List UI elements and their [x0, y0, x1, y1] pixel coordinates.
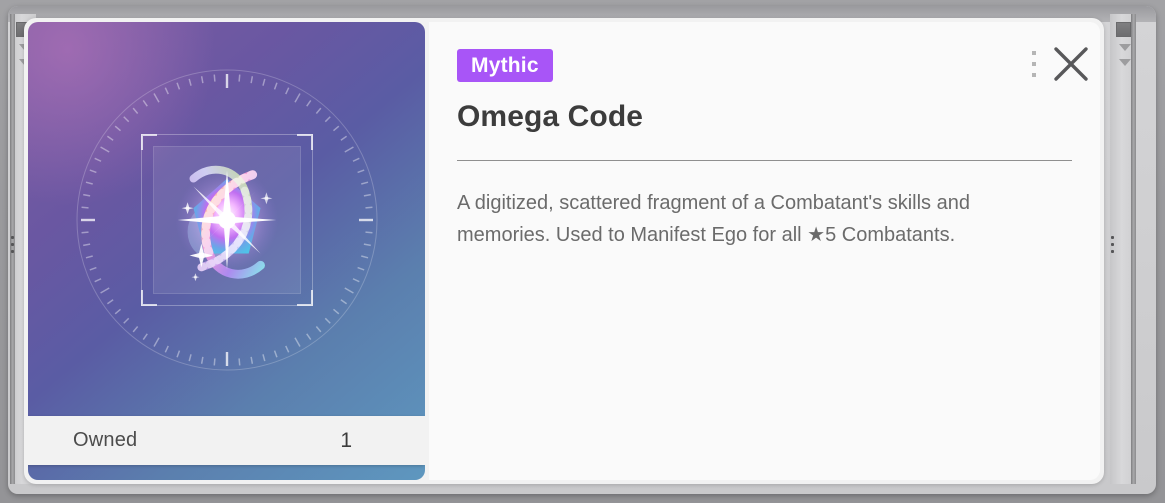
scrollbar-grip-right [1111, 232, 1115, 266]
rarity-badge-label: Mythic [471, 54, 539, 78]
item-detail-dialog: Owned 1 Mythic Omega Code A digitized, s… [24, 18, 1104, 484]
item-title: Omega Code [457, 100, 643, 134]
right-vertical-scrollbar[interactable] [1110, 14, 1136, 484]
owned-label: Owned [73, 429, 137, 452]
item-description: A digitized, scattered fragment of a Com… [457, 187, 1047, 251]
scroll-down-arrow-right-1[interactable] [1119, 44, 1131, 51]
barcode-decoration [388, 416, 425, 465]
close-x-icon[interactable] [1047, 40, 1095, 88]
title-divider [457, 160, 1072, 161]
scrollbar-grip-left [11, 232, 15, 266]
owned-value: 1 [340, 429, 352, 453]
scroll-down-arrow-right-2[interactable] [1119, 59, 1131, 66]
omega-code-gem-icon [158, 151, 296, 289]
kebab-menu-icon[interactable] [1029, 44, 1039, 84]
scrollbar-rail-right[interactable] [1131, 14, 1136, 484]
item-artwork-panel: Owned 1 [28, 22, 425, 480]
rarity-badge: Mythic [457, 49, 553, 82]
scrollbar-thumb-right[interactable] [1116, 22, 1131, 37]
owned-row: Owned 1 [28, 416, 424, 465]
item-info-panel: Mythic Omega Code A digitized, scattered… [429, 22, 1100, 480]
screen: Owned 1 Mythic Omega Code A digitized, s… [0, 0, 1165, 503]
